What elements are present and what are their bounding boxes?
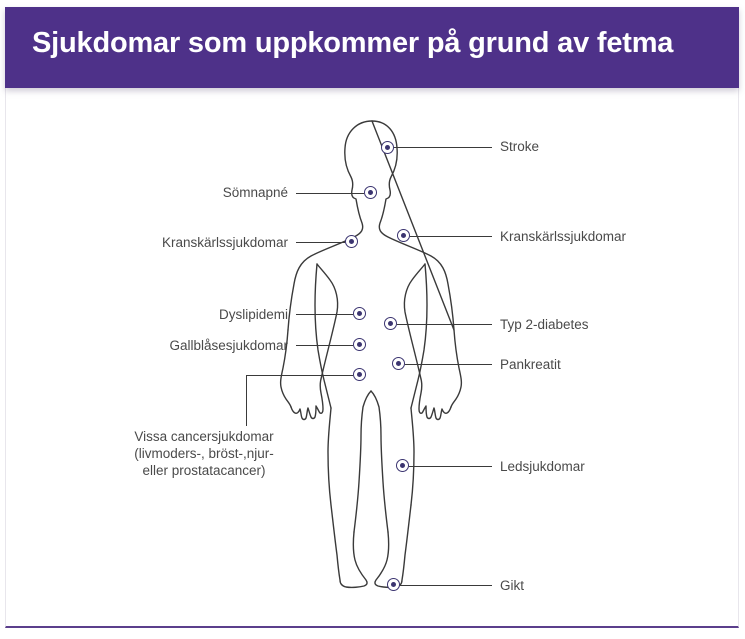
marker-typ-2-diabetes[interactable] (384, 317, 397, 330)
marker-dyslipidemi[interactable] (353, 307, 366, 320)
connector-vissa-cancersjukdomar-horizontal (246, 375, 353, 376)
connector-somnapne (296, 193, 364, 194)
label-pankreatit: Pankreatit (500, 356, 561, 373)
marker-vissa-cancersjukdomar[interactable] (353, 368, 366, 381)
connector-vissa-cancersjukdomar-vertical (246, 375, 247, 426)
marker-gallblasesjukdomar[interactable] (353, 338, 366, 351)
infographic-root: Sjukdomar som uppkommer på grund av fetm… (0, 0, 745, 639)
connector-ledsjukdomar (409, 466, 492, 467)
label-vissa-cancersjukdomar-line-3: eller prostatacancer) (124, 462, 284, 479)
label-ledsjukdomar: Ledsjukdomar (500, 458, 585, 475)
connector-gallblasesjukdomar (296, 345, 353, 346)
marker-kranskarlssjukdomar-left[interactable] (345, 235, 358, 248)
annotation-layer: Stroke Kranskärlssjukdomar Typ 2-diabete… (0, 0, 745, 639)
label-gallblasesjukdomar: Gallblåsesjukdomar (169, 337, 288, 354)
label-gikt: Gikt (500, 577, 524, 594)
marker-pankreatit[interactable] (392, 357, 405, 370)
label-vissa-cancersjukdomar: Vissa cancersjukdomar (livmoders-, bröst… (124, 428, 284, 479)
connector-kranskarlssjukdomar-left (296, 242, 345, 243)
connector-gikt (400, 585, 492, 586)
connector-typ-2-diabetes (397, 324, 492, 325)
marker-ledsjukdomar[interactable] (396, 459, 409, 472)
label-dyslipidemi: Dyslipidemi (219, 306, 288, 323)
label-stroke: Stroke (500, 138, 539, 155)
label-kranskarlssjukdomar-right: Kranskärlssjukdomar (500, 228, 626, 245)
connector-kranskarlssjukdomar-right (410, 236, 492, 237)
label-vissa-cancersjukdomar-line-1: Vissa cancersjukdomar (124, 428, 284, 445)
marker-gikt[interactable] (387, 578, 400, 591)
connector-pankreatit (405, 364, 492, 365)
connector-stroke (394, 147, 492, 148)
marker-somnapne[interactable] (364, 186, 377, 199)
label-typ-2-diabetes: Typ 2-diabetes (500, 316, 589, 333)
label-somnapne: Sömnapné (223, 184, 288, 201)
marker-kranskarlssjukdomar-right[interactable] (397, 229, 410, 242)
marker-stroke[interactable] (381, 141, 394, 154)
connector-dyslipidemi (296, 314, 353, 315)
label-kranskarlssjukdomar-left: Kranskärlssjukdomar (162, 234, 288, 251)
label-vissa-cancersjukdomar-line-2: (livmoders-, bröst-,njur- (124, 445, 284, 462)
